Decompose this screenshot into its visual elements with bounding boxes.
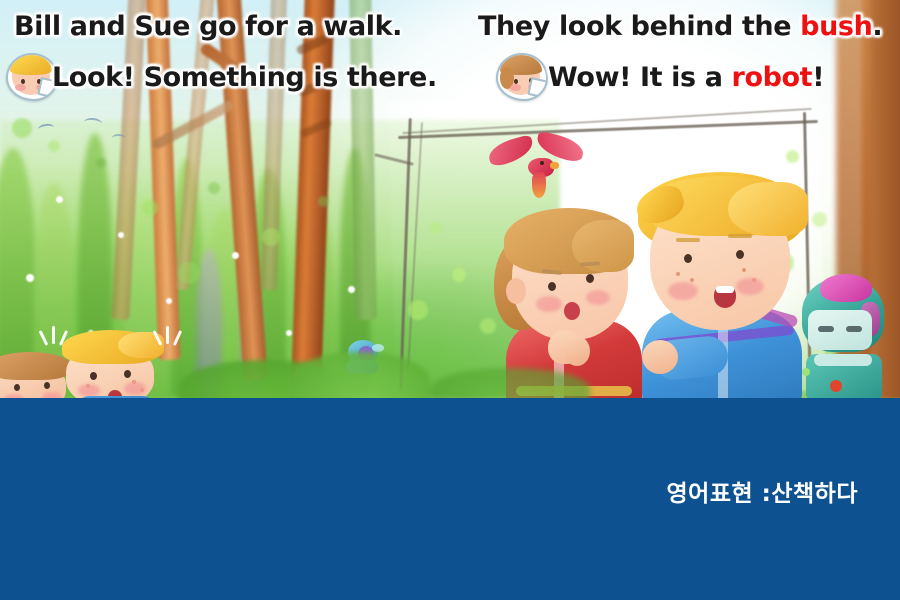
sentence-line-3-text: Look! Something is there. bbox=[52, 62, 437, 93]
avatar-cheek bbox=[510, 84, 521, 91]
light-sparkle bbox=[348, 286, 355, 293]
light-sparkle bbox=[118, 232, 124, 238]
bokeh-dot bbox=[142, 200, 158, 216]
bottom-blue-panel: 영어표현 :산책하다 bbox=[0, 398, 900, 600]
distant-bird bbox=[112, 134, 125, 142]
sentence-line-1: Bill and Sue go for a walk. bbox=[14, 11, 402, 42]
light-sparkle bbox=[166, 298, 172, 304]
bokeh-dot bbox=[480, 318, 496, 334]
surprise-mark bbox=[166, 326, 169, 344]
bokeh-dot bbox=[12, 118, 32, 138]
bokeh-dot bbox=[452, 268, 466, 282]
avatar-bubble-tail bbox=[527, 77, 548, 99]
bokeh-dot bbox=[208, 182, 220, 194]
bokeh-dot bbox=[408, 300, 428, 320]
sentence-line-2-post: . bbox=[872, 11, 882, 42]
slide-root: Bill and Sue go for a walk. They look be… bbox=[0, 0, 900, 600]
light-sparkle bbox=[26, 274, 34, 282]
sentence-line-2-pre: They look behind the bbox=[478, 11, 800, 42]
girl-avatar bbox=[496, 53, 548, 101]
sentence-line-4: Wow! It is a robot! bbox=[548, 62, 824, 93]
keyword-robot: robot bbox=[732, 62, 813, 93]
bokeh-dot bbox=[318, 196, 329, 207]
teal-robot bbox=[796, 276, 892, 398]
boy-avatar bbox=[6, 53, 58, 101]
bokeh-dot bbox=[262, 228, 280, 246]
keyword-bush: bush bbox=[800, 11, 872, 42]
sentence-line-3: Look! Something is there. bbox=[52, 62, 437, 93]
sentence-overlay: Bill and Sue go for a walk. They look be… bbox=[0, 0, 900, 100]
sentence-line-2: They look behind the bush. bbox=[478, 11, 882, 42]
bokeh-dot bbox=[178, 262, 200, 284]
sentence-line-1-text: Bill and Sue go for a walk. bbox=[14, 11, 402, 42]
sentence-line-4-pre: Wow! It is a bbox=[548, 62, 732, 93]
avatar-hair bbox=[10, 55, 52, 75]
light-sparkle bbox=[56, 196, 63, 203]
bokeh-dot bbox=[48, 140, 60, 152]
bokeh-dot bbox=[96, 158, 106, 168]
korean-expression-note: 영어표현 :산책하다 bbox=[0, 474, 858, 508]
foreground-child-boy bbox=[60, 328, 170, 398]
light-sparkle bbox=[286, 330, 292, 336]
surprise-mark bbox=[52, 326, 55, 344]
light-sparkle bbox=[232, 252, 239, 259]
bokeh-dot bbox=[430, 222, 442, 234]
avatar-cheek bbox=[15, 84, 26, 91]
sentence-line-4-post: ! bbox=[812, 62, 824, 93]
